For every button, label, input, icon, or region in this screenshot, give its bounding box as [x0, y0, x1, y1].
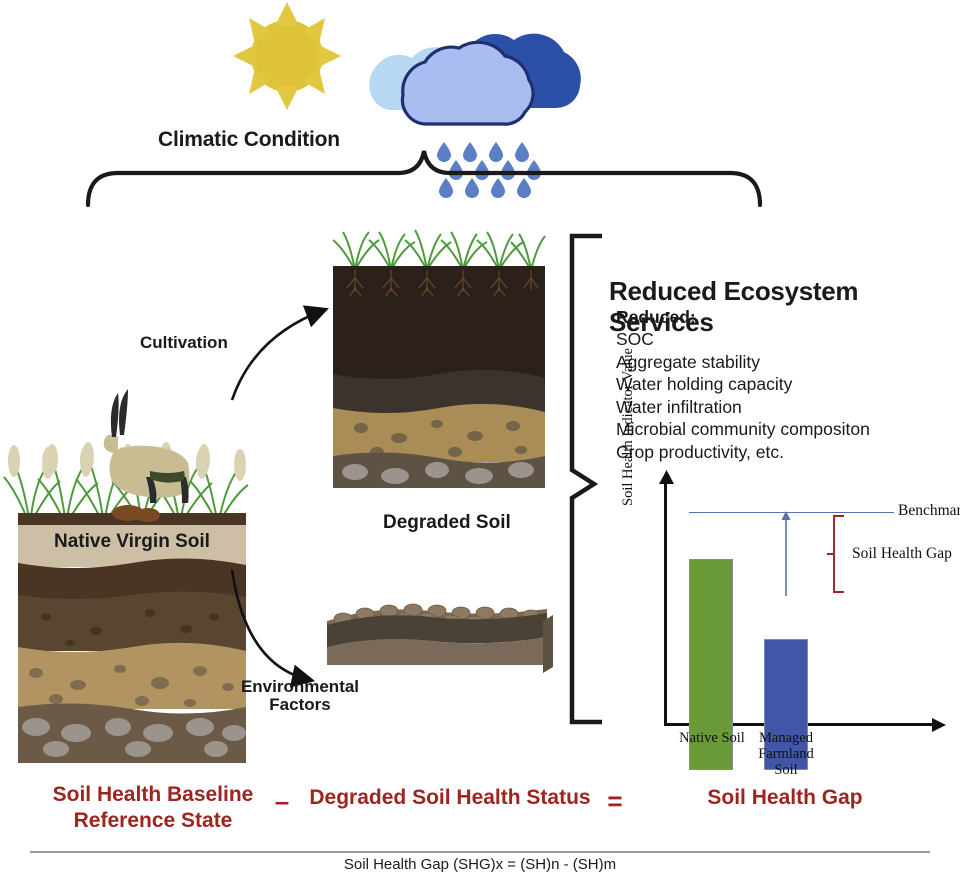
soil-health-gap-bracket: [826, 514, 846, 600]
ecosystem-bracket: [572, 236, 602, 722]
horizontal-rule: [30, 851, 930, 853]
formula-text: Soil Health Gap (SHG)x = (SH)n - (SH)m: [0, 856, 960, 873]
y-axis: [664, 476, 667, 725]
list-item: Water holding capacity: [616, 373, 870, 395]
chart-y-axis-label: Soil Health Indicator Value: [620, 332, 637, 522]
reduced-ecosystem-services-list: Reduced: SOC Aggregate stability Water h…: [616, 306, 870, 463]
equation-minus: –: [262, 786, 302, 817]
list-item: Microbial community compositon: [616, 418, 870, 440]
list-header: Reduced:: [616, 306, 870, 328]
environmental-factors-arrow: [232, 570, 310, 680]
benchmark-label: Benchmark: [898, 502, 960, 520]
equation-left-line1: Soil Health Baseline: [38, 782, 268, 808]
cultivation-arrow: [232, 310, 324, 400]
equation-left: Soil Health Baseline Reference State: [38, 782, 268, 833]
x-tick-managed-farmland-soil: Managed Farmland Soil: [744, 730, 828, 779]
equation-equals: =: [590, 786, 640, 817]
equation-middle: Degraded Soil Health Status: [300, 786, 600, 810]
soil-health-bar-chart: Soil Health Indicator Value Benchmark So…: [626, 470, 956, 770]
x-tick-line1: Managed: [744, 730, 828, 746]
list-item: Water infiltration: [616, 396, 870, 418]
equation-left-line2: Reference State: [38, 808, 268, 834]
list-item: Aggregate stability: [616, 351, 870, 373]
list-item: SOC: [616, 328, 870, 350]
equation-right: Soil Health Gap: [640, 786, 930, 810]
x-tick-line2: Farmland: [744, 746, 828, 762]
environmental-factors-line2: Factors: [240, 696, 360, 714]
y-axis-arrow: [657, 470, 677, 484]
soil-health-gap-label: Soil Health Gap: [852, 545, 952, 563]
cultivation-label: Cultivation: [140, 333, 228, 353]
equation-band: Soil Health Baseline Reference State – D…: [0, 782, 960, 844]
x-tick-line3: Soil: [744, 762, 828, 778]
environmental-factors-line1: Environmental: [240, 678, 360, 696]
gap-arrow: [778, 510, 794, 596]
list-item: Crop productivity, etc.: [616, 441, 870, 463]
x-axis-arrow: [932, 716, 948, 734]
environmental-factors-label: Environmental Factors: [240, 678, 360, 715]
